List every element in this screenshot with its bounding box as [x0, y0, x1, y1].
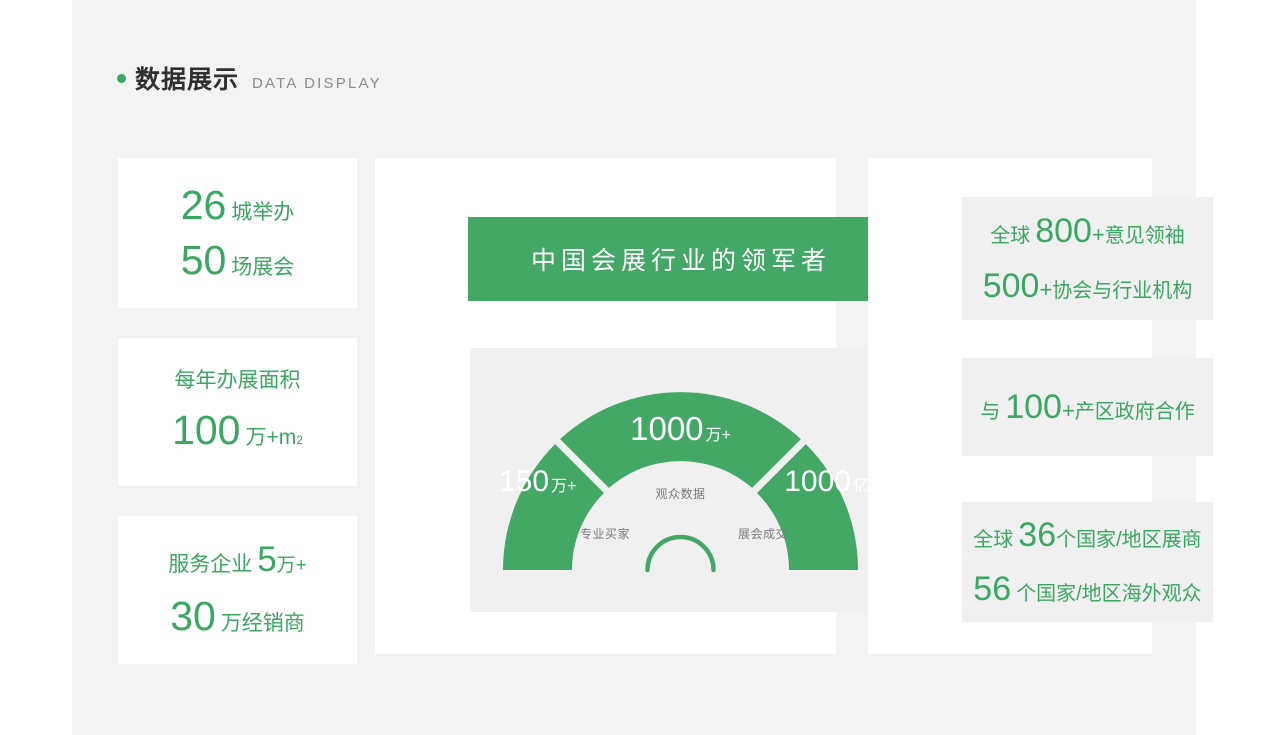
gauge-chart: 1000 万+ 150 万+ 1000 亿 观众数据 专业买家 展会成交: [470, 348, 891, 612]
stat-text: 每年办展面积: [175, 368, 301, 394]
headline-banner-text: 中国会展行业的领军者: [531, 241, 831, 277]
gauge-caption-audience: 观众数据: [655, 485, 705, 502]
stat-plus: +: [1092, 222, 1105, 248]
stat-card-cities: 26 城举办 50 场展会: [118, 158, 357, 308]
stat-number: 800: [1035, 209, 1092, 253]
stat-card-countries: 全球 36 个国家/地区展商 56 个国家/地区海外观众: [962, 502, 1213, 622]
stat-line: 30 万经销商: [170, 591, 305, 642]
stat-number: 5: [257, 538, 276, 582]
gauge-unit: 万+: [551, 472, 576, 496]
gauge-caption-turnover: 展会成交: [738, 525, 788, 542]
content-canvas: 数据展示 DATA DISPLAY 26 城举办 50 场展会 每年办展面积: [72, 0, 1196, 735]
stat-text: 城举办: [231, 200, 294, 226]
gauge-value-buyers: 150 万+: [499, 465, 576, 499]
gauge-unit: 亿: [853, 472, 869, 496]
stat-text: 万+: [277, 554, 307, 578]
stat-prefix: 与: [980, 399, 1000, 425]
stat-text: 个国家/地区海外观众: [1016, 581, 1202, 607]
stat-number: 100: [172, 405, 240, 456]
gauge-number: 150: [499, 465, 549, 499]
stat-prefix: 全球: [973, 527, 1013, 553]
gauge-number: 1000: [784, 465, 851, 499]
left-column: 26 城举办 50 场展会 每年办展面积 100 万+m2: [118, 158, 357, 664]
stat-line: 每年办展面积: [175, 368, 301, 394]
stat-card-leaders: 全球 800 + 意见领袖 500 + 协会与行业机构: [962, 197, 1213, 320]
stat-line: 服务企业 5 万+: [168, 538, 307, 582]
stat-text: 万经销商: [221, 611, 305, 637]
stat-text: 意见领袖: [1105, 223, 1185, 249]
section-header: 数据展示 DATA DISPLAY: [117, 68, 382, 93]
right-panel: 全球 800 + 意见领袖 500 + 协会与行业机构 与 100 + 产区政府…: [868, 158, 1152, 654]
page-subtitle: DATA DISPLAY: [252, 76, 382, 91]
gauge-inner-arc: [648, 537, 714, 570]
gauge-caption-buyers: 专业买家: [580, 525, 630, 542]
stat-number: 500: [983, 264, 1040, 308]
stat-number: 36: [1018, 513, 1056, 557]
stat-text: 场展会: [231, 255, 294, 281]
stat-line: 500 + 协会与行业机构: [983, 264, 1193, 308]
stat-line: 26 城举办: [181, 180, 295, 231]
stat-text: 产区政府合作: [1075, 399, 1195, 425]
gauge-unit: 万+: [706, 421, 731, 445]
stat-text: 协会与行业机构: [1052, 278, 1192, 304]
headline-banner: 中国会展行业的领军者: [468, 217, 894, 301]
stat-line: 100 万+m2: [172, 405, 303, 456]
stat-number: 50: [181, 235, 227, 286]
center-panel: 中国会展行业的领军者 1000: [375, 158, 836, 654]
stat-number: 56: [973, 567, 1011, 611]
stat-plus: +: [1039, 277, 1052, 303]
stat-number: 30: [170, 591, 216, 642]
stat-card-government: 与 100 + 产区政府合作: [962, 358, 1213, 456]
page-title: 数据展示: [135, 68, 239, 93]
stat-number: 100: [1005, 385, 1062, 429]
stat-superscript: 2: [296, 433, 303, 447]
gauge-panel: 1000 万+ 150 万+ 1000 亿 观众数据 专业买家 展会成交: [470, 348, 891, 612]
stat-card-enterprises: 服务企业 5 万+ 30 万经销商: [118, 516, 357, 664]
stat-line: 50 场展会: [181, 235, 295, 286]
stat-line: 56 个国家/地区海外观众: [973, 567, 1201, 611]
stat-line: 全球 800 + 意见领袖: [990, 209, 1185, 253]
stat-card-area: 每年办展面积 100 万+m2: [118, 338, 357, 486]
stat-prefix: 服务企业: [168, 552, 252, 578]
stat-line: 与 100 + 产区政府合作: [980, 385, 1195, 429]
gauge-number: 1000: [630, 410, 703, 448]
gauge-value-turnover: 1000 亿: [784, 465, 869, 499]
stat-plus: +: [1062, 398, 1075, 424]
stat-text: 万+m: [245, 425, 296, 451]
stat-line: 全球 36 个国家/地区展商: [973, 513, 1201, 557]
dot-icon: [117, 74, 126, 83]
stat-text: 个国家/地区展商: [1056, 527, 1202, 553]
slide-page: 数据展示 DATA DISPLAY 26 城举办 50 场展会 每年办展面积: [0, 0, 1268, 735]
stat-prefix: 全球: [990, 223, 1030, 249]
gauge-value-audience: 1000 万+: [630, 410, 731, 448]
stat-number: 26: [181, 180, 227, 231]
